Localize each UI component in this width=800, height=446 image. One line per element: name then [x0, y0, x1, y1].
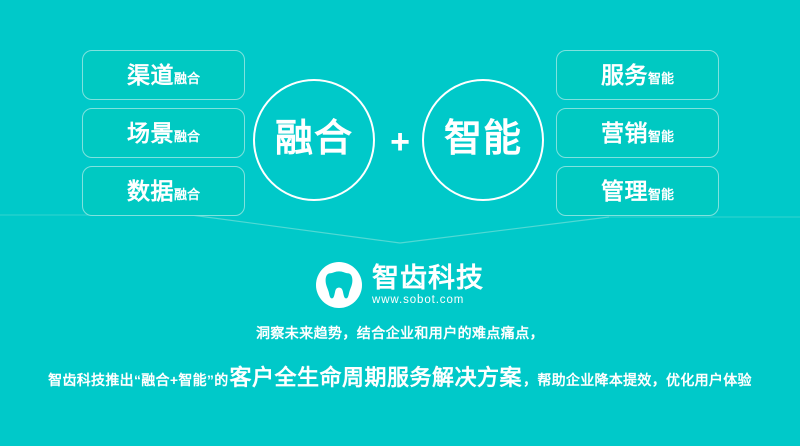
left-pill-group: 渠道融合 场景融合 数据融合: [82, 50, 245, 216]
pill-secondary-label: 智能: [648, 130, 674, 143]
pill-service-intelligence[interactable]: 服务智能: [556, 50, 719, 100]
pill-secondary-label: 融合: [174, 188, 200, 201]
pill-primary-label: 渠道: [127, 64, 174, 87]
pill-scenario-fusion[interactable]: 场景融合: [82, 108, 245, 158]
circle-fusion-label: 融合: [275, 120, 353, 158]
pill-primary-label: 数据: [127, 180, 174, 203]
pill-secondary-label: 智能: [648, 188, 674, 201]
plus-operator: +: [384, 126, 416, 158]
brand-logo: 智齿科技 www.sobot.com: [0, 262, 800, 308]
pill-data-fusion[interactable]: 数据融合: [82, 166, 245, 216]
tagline-prefix: 智齿科技推出“融合+智能”的: [48, 370, 228, 390]
pill-channel-fusion[interactable]: 渠道融合: [82, 50, 245, 100]
tagline-suffix: ，帮助企业降本提效，优化用户体验: [523, 370, 752, 390]
pill-secondary-label: 融合: [174, 130, 200, 143]
pill-secondary-label: 智能: [648, 72, 674, 85]
pill-marketing-intelligence[interactable]: 营销智能: [556, 108, 719, 158]
brand-text: 智齿科技 www.sobot.com: [372, 264, 484, 307]
circle-intelligence[interactable]: 智能: [422, 79, 544, 201]
pill-primary-label: 管理: [601, 180, 648, 203]
circle-intelligence-label: 智能: [444, 120, 522, 158]
right-pill-group: 服务智能 营销智能 管理智能: [556, 50, 719, 216]
pill-primary-label: 场景: [127, 122, 174, 145]
tagline-line-1: 洞察未来趋势，结合企业和用户的难点痛点，: [0, 323, 800, 343]
brand-name: 智齿科技: [372, 264, 484, 292]
pill-management-intelligence[interactable]: 管理智能: [556, 166, 719, 216]
pill-primary-label: 服务: [601, 64, 648, 87]
pill-secondary-label: 融合: [174, 72, 200, 85]
tagline-emphasis: 客户全生命周期服务解决方案: [229, 360, 524, 392]
pill-primary-label: 营销: [601, 122, 648, 145]
tooth-icon: [316, 262, 362, 308]
brand-url: www.sobot.com: [372, 295, 464, 307]
circle-fusion[interactable]: 融合: [253, 79, 375, 201]
tagline-line-2: 智齿科技推出“融合+智能”的 客户全生命周期服务解决方案 ，帮助企业降本提效，优…: [0, 360, 800, 392]
slide-canvas: 渠道融合 场景融合 数据融合 融合 + 智能 服务智能 营销智能 管理智能: [0, 0, 800, 446]
